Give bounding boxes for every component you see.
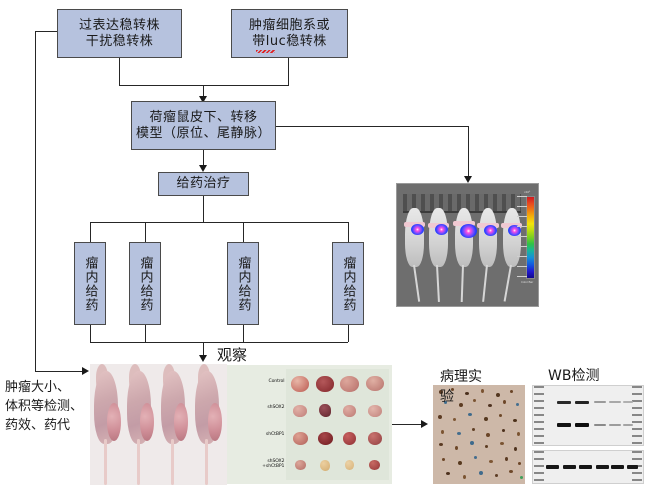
tumor-specimen (366, 376, 384, 391)
biolum-mouse (405, 208, 423, 267)
western-blot-gel (532, 385, 644, 484)
connector-model-right-down (468, 126, 469, 179)
spellcheck-squiggle (256, 50, 275, 53)
connector-collect-3 (243, 325, 244, 342)
connector-feedback-bottom (35, 371, 84, 372)
nude-mouse-tail (205, 439, 208, 485)
wb-band (609, 401, 621, 403)
wb-band (563, 465, 576, 469)
nude-mouse-tail (137, 439, 140, 485)
tumor-array-row-label: Control (268, 379, 284, 385)
connector-top-join (119, 85, 289, 86)
biolum-scale-bottom-label: Color Bar (516, 280, 538, 284)
tumor-specimen (369, 460, 380, 470)
biolum-tail (482, 264, 488, 301)
wb-band (596, 465, 609, 469)
subcutaneous-tumor (107, 403, 121, 442)
wb-band (611, 465, 624, 469)
nude-mouse-tail (104, 439, 107, 485)
biolum-scale-ticks (513, 196, 527, 277)
excised-tumor-array: Control shSOX2 shCtBP1 shSOX2 +shCtBP1 (227, 365, 392, 484)
arrowhead-to-biolum (464, 176, 472, 183)
node-intratumoral-1-label: 瘤内给药 (84, 256, 97, 312)
subcutaneous-tumor (140, 403, 154, 442)
wb-ladder-left (534, 386, 544, 445)
label-pathology: 病理实 验 (440, 367, 502, 408)
arrowhead-to-ihc (421, 420, 428, 428)
biolum-tail (436, 264, 440, 301)
node-intratumoral-2-label: 瘤内给药 (139, 256, 152, 312)
connector-cellline-down (119, 58, 120, 85)
node-cell-lines-stable[interactable]: 过表达稳转株 干扰稳转株 (57, 9, 182, 58)
biolum-color-scalebar (526, 196, 535, 279)
connector-fan-2 (145, 222, 146, 242)
wb-band (594, 401, 606, 403)
wb-band (575, 401, 589, 404)
tumor-specimen (293, 432, 308, 445)
wb-band (627, 465, 638, 469)
tumor-specimen (293, 405, 307, 417)
label-measurements: 肿瘤大小、 体积等检测、 药效、药代 (5, 379, 95, 436)
node-tumor-model-label: 荷瘤鼠皮下、转移 模型（原位、尾静脉） (136, 110, 271, 142)
subcutaneous-tumor (208, 403, 222, 442)
connector-collect-2 (145, 325, 146, 342)
arrowhead-to-mice-photo (82, 367, 89, 375)
tumor-specimen (291, 376, 309, 392)
node-intratumoral-2[interactable]: 瘤内给药 (129, 242, 161, 325)
wb-ladder-right (632, 386, 642, 445)
connector-collect-4 (348, 325, 349, 342)
tumor-specimen (368, 405, 382, 417)
wb-band (557, 401, 571, 404)
tumor-specimen (319, 404, 331, 417)
tumor-specimen (345, 460, 354, 470)
bioluminescence-imaging: x10⁶ Color Bar (396, 183, 539, 307)
arrowhead-to-observation (199, 355, 207, 362)
tumor-specimen (318, 432, 333, 445)
tumor-array-grid (286, 369, 388, 481)
wb-band (575, 423, 589, 427)
tumor-specimen (343, 405, 356, 417)
node-intratumoral-4[interactable]: 瘤内给药 (332, 242, 364, 325)
connector-luc-down (288, 58, 289, 85)
flowchart-canvas: 过表达稳转株 干扰稳转株 肿瘤细胞系或 带luc稳转株 荷瘤鼠皮下、转移 模型（… (0, 0, 648, 487)
connector-feedback-top (35, 31, 57, 32)
nude-mouse-tail (171, 439, 174, 485)
wb-panel-loading-control (532, 450, 644, 484)
tumor-specimen (343, 432, 356, 445)
tumor-specimen (316, 376, 334, 392)
biolum-mouse (429, 208, 447, 267)
wb-ladder-left (534, 451, 544, 483)
node-intratumoral-3-label: 瘤内给药 (237, 256, 250, 312)
arrowhead-to-treatment (199, 165, 207, 172)
wb-band (546, 465, 559, 469)
connector-treatment-fanout (90, 222, 348, 223)
wb-band (557, 423, 571, 427)
wb-band (609, 424, 621, 426)
tumor-specimen (368, 432, 382, 445)
node-intratumoral-4-label: 瘤内给药 (342, 256, 355, 312)
node-intratumoral-3[interactable]: 瘤内给药 (227, 242, 259, 325)
connector-feedback-vertical (35, 31, 36, 371)
node-tumor-model[interactable]: 荷瘤鼠皮下、转移 模型（原位、尾静脉） (131, 101, 276, 150)
tumor-array-row-label: shSOX2 +shCtBP1 (262, 459, 284, 470)
nude-mouse (193, 364, 223, 485)
nude-mice-tumor-photo (90, 364, 227, 485)
node-tumor-cell-luc[interactable]: 肿瘤细胞系或 带luc稳转株 (231, 9, 348, 58)
tumor-specimen (320, 460, 330, 471)
node-intratumoral-1[interactable]: 瘤内给药 (74, 242, 106, 325)
biolum-signal (460, 224, 477, 238)
connector-fan-3 (243, 222, 244, 242)
subcutaneous-tumor (174, 403, 188, 442)
node-cell-lines-stable-label: 过表达稳转株 干扰稳转株 (79, 18, 160, 50)
tumor-array-row-label: shCtBP1 (266, 432, 284, 438)
node-drug-treatment[interactable]: 给药治疗 (158, 172, 249, 196)
wb-panel-target (532, 385, 644, 446)
nude-mouse (91, 364, 121, 485)
biolum-mouse (479, 208, 497, 267)
wb-band (623, 424, 633, 426)
biolum-scale-top-label: x10⁶ (516, 190, 538, 194)
tumor-specimen (295, 460, 306, 470)
tumor-array-row-labels: Control shSOX2 shCtBP1 shSOX2 +shCtBP1 (229, 369, 287, 481)
connector-array-to-ihc (392, 424, 423, 425)
biolum-tail (503, 264, 511, 300)
label-observation: 观察 (217, 346, 247, 366)
label-western-blot: WB检测 (548, 367, 599, 385)
connector-fan-1 (90, 222, 91, 242)
nude-mouse (159, 364, 189, 485)
tumor-array-row-label: shSOX2 (267, 405, 284, 411)
connector-model-right (276, 126, 469, 127)
biolum-tail (461, 264, 464, 301)
connector-fan-4 (348, 222, 349, 242)
connector-collect-bar (90, 342, 348, 343)
nude-mouse (124, 364, 154, 485)
wb-band (594, 424, 606, 426)
node-drug-treatment-label: 给药治疗 (176, 176, 230, 192)
connector-collect-1 (90, 325, 91, 342)
connector-treatment-down (203, 196, 204, 222)
wb-band (579, 465, 592, 469)
biolum-tail (413, 264, 420, 301)
node-tumor-cell-luc-label: 肿瘤细胞系或 带luc稳转株 (249, 18, 330, 50)
tumor-specimen (340, 376, 359, 392)
